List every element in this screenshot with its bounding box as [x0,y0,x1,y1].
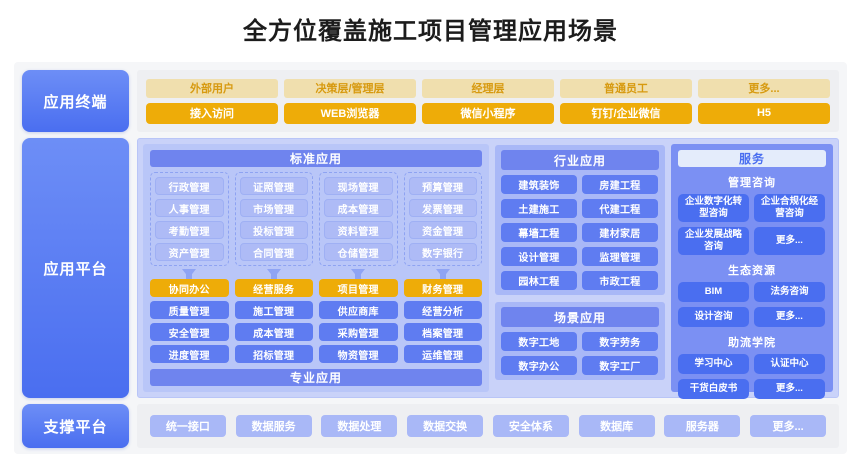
professional-application-groups: 协同办公 质量管理 安全管理 进度管理 经营服务 施工管理 成本管理 招标管理 [150,279,482,363]
standard-item[interactable]: 资产管理 [155,243,224,261]
platform-body: 标准应用 行政管理 人事管理 考勤管理 资产管理 证照管理 市场管理 投标管理 [137,138,839,398]
service-item-more[interactable]: 更多... [754,379,825,399]
service-item[interactable]: 企业合规化经营咨询 [754,194,825,222]
support-item[interactable]: 数据交换 [407,415,483,437]
service-item[interactable]: 设计咨询 [678,307,749,327]
professional-item[interactable]: 采购管理 [319,323,398,341]
service-item[interactable]: 学习中心 [678,354,749,374]
standard-item[interactable]: 资料管理 [324,221,393,239]
industry-item[interactable]: 代建工程 [582,199,658,218]
stage-label-support-platform: 支撑平台 [22,404,129,448]
terminal-column-0: 外部用户 接入访问 [146,79,278,124]
support-item[interactable]: 数据服务 [236,415,312,437]
standard-application-groups: 行政管理 人事管理 考勤管理 资产管理 证照管理 市场管理 投标管理 合同管理 [150,172,482,266]
row-application-terminal: 应用终端 外部用户 接入访问 决策层/管理层 WEB浏览器 经理层 微信小程序 … [22,70,839,132]
terminal-channel[interactable]: 接入访问 [146,103,278,124]
professional-group-head[interactable]: 财务管理 [404,279,483,297]
panel-standard-professional: 标准应用 行政管理 人事管理 考勤管理 资产管理 证照管理 市场管理 投标管理 [143,144,489,392]
arrow-wrap-1 [235,268,314,278]
page-title: 全方位覆盖施工项目管理应用场景 [0,0,861,55]
industry-item[interactable]: 设计管理 [501,247,577,266]
industry-application-block: 行业应用 建筑装饰 房建工程 土建施工 代建工程 幕墙工程 建材家居 设计管理 … [495,145,665,295]
service-item[interactable]: 企业发展战略咨询 [678,227,749,255]
services-section-items-2: 学习中心 认证中心 干货白皮书 更多... [678,354,826,399]
panel-services: 服务 管理咨询 企业数字化转型咨询 企业合规化经营咨询 企业发展战略咨询 更多.… [671,144,833,392]
support-item[interactable]: 统一接口 [150,415,226,437]
professional-group-head[interactable]: 经营服务 [235,279,314,297]
professional-group-1: 经营服务 施工管理 成本管理 招标管理 [235,279,314,363]
professional-item[interactable]: 运维管理 [404,345,483,363]
service-item[interactable]: 法务咨询 [754,282,825,302]
industry-item[interactable]: 园林工程 [501,271,577,290]
scenario-item[interactable]: 数字劳务 [582,332,658,351]
terminal-column-1: 决策层/管理层 WEB浏览器 [284,79,416,124]
support-item[interactable]: 服务器 [664,415,740,437]
industry-item[interactable]: 监理管理 [582,247,658,266]
services-section-title: 管理咨询 [678,174,826,190]
standard-item[interactable]: 仓储管理 [324,243,393,261]
terminal-channel[interactable]: H5 [698,103,830,124]
service-item[interactable]: 企业数字化转型咨询 [678,194,749,222]
standard-item[interactable]: 资金管理 [409,221,478,239]
banner-standard-application: 标准应用 [150,150,482,167]
standard-item[interactable]: 合同管理 [240,243,309,261]
services-section-title: 助流学院 [678,334,826,350]
scenario-items: 数字工地 数字劳务 数字办公 数字工厂 [501,332,659,375]
professional-group-3: 财务管理 经营分析 档案管理 运维管理 [404,279,483,363]
professional-item[interactable]: 质量管理 [150,301,229,319]
arrow-down-icon [267,269,281,278]
standard-item[interactable]: 证照管理 [240,177,309,195]
arrow-down-icon [182,269,196,278]
industry-item[interactable]: 幕墙工程 [501,223,577,242]
standard-group-2: 现场管理 成本管理 资料管理 仓储管理 [319,172,398,266]
professional-item[interactable]: 成本管理 [235,323,314,341]
banner-services: 服务 [678,150,826,167]
standard-item[interactable]: 预算管理 [409,177,478,195]
terminal-audience: 经理层 [422,79,554,98]
support-item[interactable]: 安全体系 [493,415,569,437]
standard-group-0: 行政管理 人事管理 考勤管理 资产管理 [150,172,229,266]
industry-item[interactable]: 建材家居 [582,223,658,242]
banner-industry-application: 行业应用 [501,150,659,170]
standard-item[interactable]: 人事管理 [155,199,224,217]
service-item-more[interactable]: 更多... [754,227,825,255]
standard-item[interactable]: 投标管理 [240,221,309,239]
professional-item[interactable]: 供应商库 [319,301,398,319]
scenario-application-block: 场景应用 数字工地 数字劳务 数字办公 数字工厂 [495,302,665,380]
professional-item[interactable]: 安全管理 [150,323,229,341]
services-section-items-1: BIM 法务咨询 设计咨询 更多... [678,282,826,327]
stage-label-application-terminal: 应用终端 [22,70,129,132]
professional-group-2: 项目管理 供应商库 采购管理 物资管理 [319,279,398,363]
industry-items: 建筑装饰 房建工程 土建施工 代建工程 幕墙工程 建材家居 设计管理 监理管理 … [501,175,659,290]
standard-item[interactable]: 考勤管理 [155,221,224,239]
scenario-item[interactable]: 数字工厂 [582,356,658,375]
terminal-audience: 普通员工 [560,79,692,98]
scenario-item[interactable]: 数字办公 [501,356,577,375]
professional-group-head[interactable]: 项目管理 [319,279,398,297]
standard-item[interactable]: 行政管理 [155,177,224,195]
industry-item[interactable]: 市政工程 [582,271,658,290]
architecture-board: 应用终端 外部用户 接入访问 决策层/管理层 WEB浏览器 经理层 微信小程序 … [14,62,847,454]
standard-item[interactable]: 成本管理 [324,199,393,217]
stage-label-application-platform: 应用平台 [22,138,129,398]
service-item[interactable]: 干货白皮书 [678,379,749,399]
professional-item[interactable]: 物资管理 [319,345,398,363]
terminal-channel[interactable]: 钉钉/企业微信 [560,103,692,124]
banner-scenario-application: 场景应用 [501,307,659,327]
professional-group-0: 协同办公 质量管理 安全管理 进度管理 [150,279,229,363]
terminal-audience: 外部用户 [146,79,278,98]
service-item[interactable]: 认证中心 [754,354,825,374]
banner-professional-application: 专业应用 [150,369,482,386]
terminal-channel[interactable]: 微信小程序 [422,103,554,124]
arrow-wrap-0 [150,268,229,278]
support-item[interactable]: 数据处理 [321,415,397,437]
terminal-channel[interactable]: WEB浏览器 [284,103,416,124]
support-strip: 统一接口 数据服务 数据处理 数据交换 安全体系 数据库 服务器 更多... [137,404,839,448]
scenario-item[interactable]: 数字工地 [501,332,577,351]
industry-item[interactable]: 建筑装饰 [501,175,577,194]
professional-item[interactable]: 进度管理 [150,345,229,363]
arrow-wrap-2 [319,268,398,278]
terminal-column-4: 更多... H5 [698,79,830,124]
professional-item[interactable]: 施工管理 [235,301,314,319]
terminal-column-2: 经理层 微信小程序 [422,79,554,124]
panel-industry-scenario: 行业应用 建筑装饰 房建工程 土建施工 代建工程 幕墙工程 建材家居 设计管理 … [495,144,665,392]
support-item[interactable]: 数据库 [579,415,655,437]
terminal-audience: 决策层/管理层 [284,79,416,98]
arrow-down-icon [351,269,365,278]
row-support-platform: 支撑平台 统一接口 数据服务 数据处理 数据交换 安全体系 数据库 服务器 更多… [22,404,839,448]
services-section-items-0: 企业数字化转型咨询 企业合规化经营咨询 企业发展战略咨询 更多... [678,194,826,255]
row-application-platform: 应用平台 标准应用 行政管理 人事管理 考勤管理 资产管理 证照管理 [22,138,839,398]
professional-item[interactable]: 档案管理 [404,323,483,341]
terminal-strip: 外部用户 接入访问 决策层/管理层 WEB浏览器 经理层 微信小程序 普通员工 … [137,70,839,132]
standard-item[interactable]: 数字银行 [409,243,478,261]
industry-item[interactable]: 土建施工 [501,199,577,218]
industry-item[interactable]: 房建工程 [582,175,658,194]
service-item[interactable]: BIM [678,282,749,302]
arrow-wrap-3 [404,268,483,278]
terminal-audience: 更多... [698,79,830,98]
standard-item[interactable]: 市场管理 [240,199,309,217]
flow-arrow-row [150,268,482,278]
standard-group-3: 预算管理 发票管理 资金管理 数字银行 [404,172,483,266]
professional-item[interactable]: 招标管理 [235,345,314,363]
terminal-column-3: 普通员工 钉钉/企业微信 [560,79,692,124]
professional-group-head[interactable]: 协同办公 [150,279,229,297]
support-item-more[interactable]: 更多... [750,415,826,437]
professional-item[interactable]: 经营分析 [404,301,483,319]
standard-item[interactable]: 发票管理 [409,199,478,217]
standard-item[interactable]: 现场管理 [324,177,393,195]
services-section-title: 生态资源 [678,262,826,278]
service-item-more[interactable]: 更多... [754,307,825,327]
standard-group-1: 证照管理 市场管理 投标管理 合同管理 [235,172,314,266]
diagram-page: 全方位覆盖施工项目管理应用场景 应用终端 外部用户 接入访问 决策层/管理层 W… [0,0,861,464]
arrow-down-icon [436,269,450,278]
